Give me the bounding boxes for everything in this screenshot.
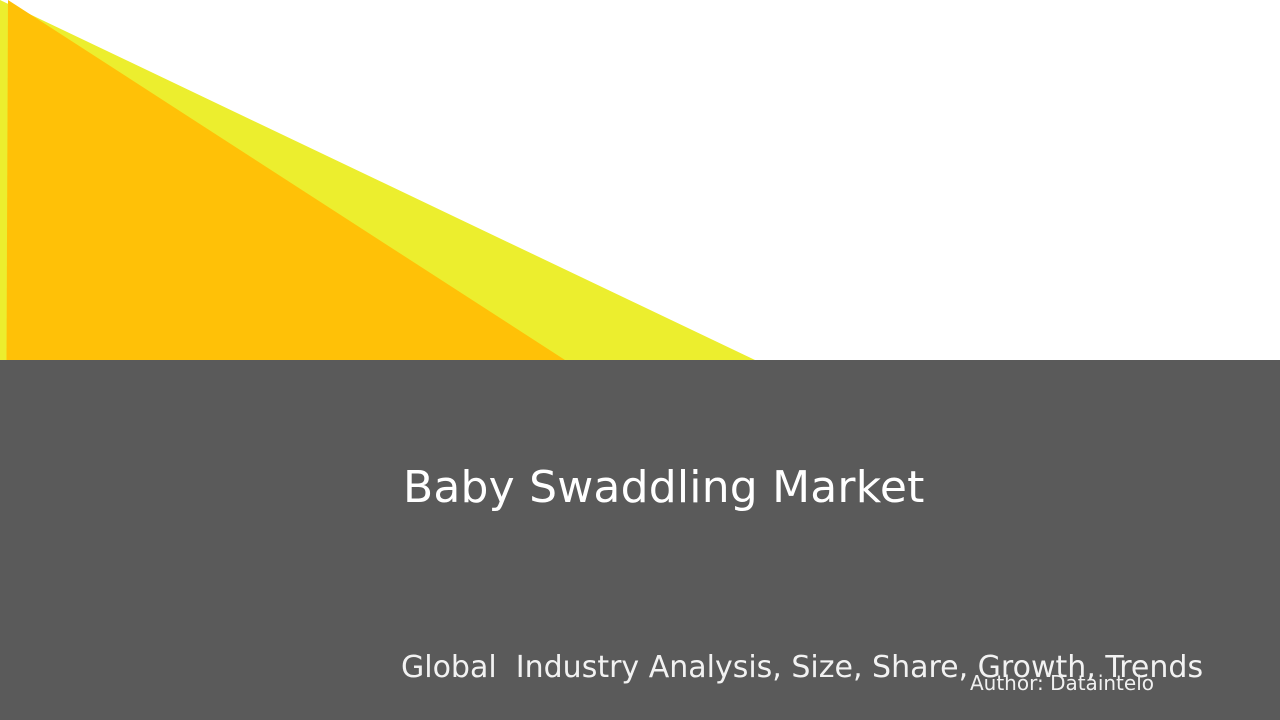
dark-content-panel	[0, 360, 1280, 720]
report-cover-page: Baby Swaddling Market Global Industry An…	[0, 0, 1280, 720]
